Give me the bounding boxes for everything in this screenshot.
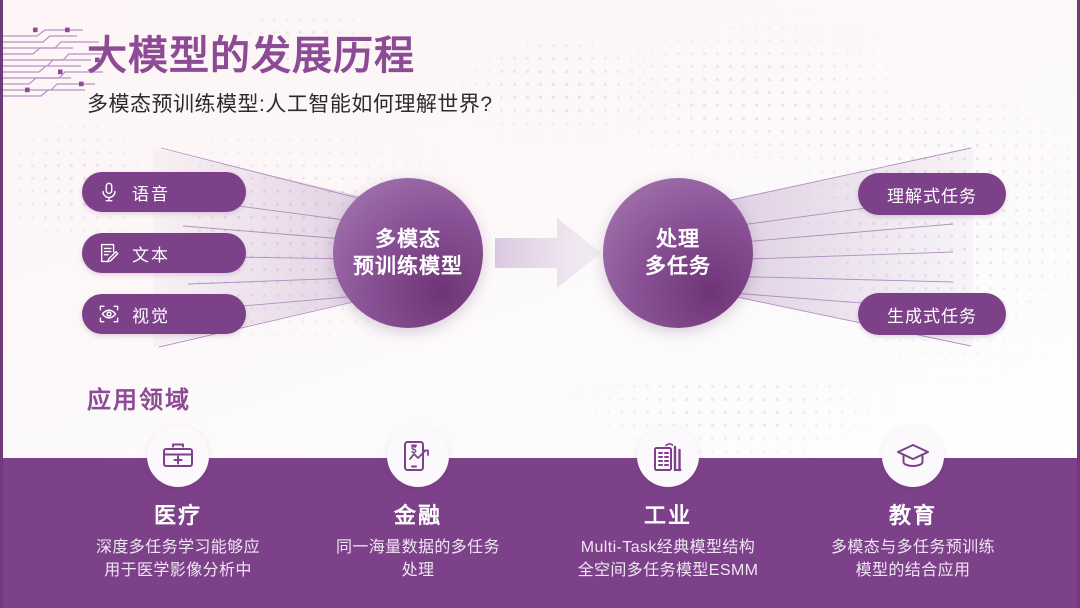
card-desc-line: 多模态与多任务预训练: [788, 537, 1038, 560]
applications-heading: 应用领域: [87, 380, 191, 415]
page-title: 大模型的发展历程: [87, 36, 415, 76]
input-pill-label: 语音: [132, 180, 170, 205]
card-title: 医疗: [53, 498, 303, 530]
input-pill-vision[interactable]: 视觉: [82, 294, 246, 334]
card-title: 教育: [788, 498, 1038, 530]
card-title: 金融: [293, 498, 543, 530]
card-title: 工业: [543, 498, 793, 530]
output-pill-generation[interactable]: 生成式任务: [858, 293, 1006, 335]
card-icon-circle: [147, 425, 209, 487]
output-pill-label: 理解式任务: [887, 182, 977, 207]
card-desc-line: 全空间多任务模型ESMM: [543, 560, 793, 583]
svg-text:$: $: [411, 445, 417, 456]
graduation-cap-icon: [895, 438, 931, 474]
card-desc-line: 同一海量数据的多任务: [293, 537, 543, 560]
input-pill-text[interactable]: 文本: [82, 233, 246, 273]
application-card-finance[interactable]: $ 金融 同一海量数据的多任务 处理: [293, 425, 543, 582]
stage-one-line1: 多模态: [353, 226, 463, 253]
application-card-education[interactable]: 教育 多模态与多任务预训练 模型的结合应用: [788, 425, 1038, 582]
microphone-icon: [98, 181, 120, 203]
factory-icon: [650, 438, 686, 474]
document-pencil-icon: [98, 242, 120, 264]
stage-two-line2: 多任务: [645, 253, 711, 280]
stage-one-line2: 预训练模型: [353, 253, 463, 280]
application-card-industry[interactable]: 工业 Multi-Task经典模型结构 全空间多任务模型ESMM: [543, 425, 793, 582]
right-arrow-icon: [495, 212, 603, 294]
input-pill-voice[interactable]: 语音: [82, 172, 246, 212]
stage-one-circle[interactable]: 多模态 预训练模型: [333, 178, 483, 328]
card-icon-circle: [637, 425, 699, 487]
output-pill-label: 生成式任务: [887, 302, 977, 327]
card-desc-line: 处理: [293, 560, 543, 583]
stage-two-line1: 处理: [645, 226, 711, 253]
card-desc-line: 模型的结合应用: [788, 560, 1038, 583]
card-desc-line: Multi-Task经典模型结构: [543, 537, 793, 560]
output-pill-understanding[interactable]: 理解式任务: [858, 173, 1006, 215]
mobile-finance-chart-icon: $: [400, 438, 436, 474]
input-pill-label: 文本: [132, 241, 170, 266]
page-subtitle: 多模态预训练模型:人工智能如何理解世界?: [87, 88, 493, 118]
card-desc-line: 深度多任务学习能够应: [53, 537, 303, 560]
card-icon-circle: [882, 425, 944, 487]
slide-root: 大模型的发展历程 多模态预训练模型:人工智能如何理解世界?: [0, 0, 1080, 608]
application-card-medical[interactable]: 医疗 深度多任务学习能够应 用于医学影像分析中: [53, 425, 303, 582]
eye-scan-icon: [98, 303, 120, 325]
medical-kit-icon: [160, 438, 196, 474]
card-desc-line: 用于医学影像分析中: [53, 560, 303, 583]
card-icon-circle: $: [387, 425, 449, 487]
input-pill-label: 视觉: [132, 302, 170, 327]
stage-two-circle[interactable]: 处理 多任务: [603, 178, 753, 328]
